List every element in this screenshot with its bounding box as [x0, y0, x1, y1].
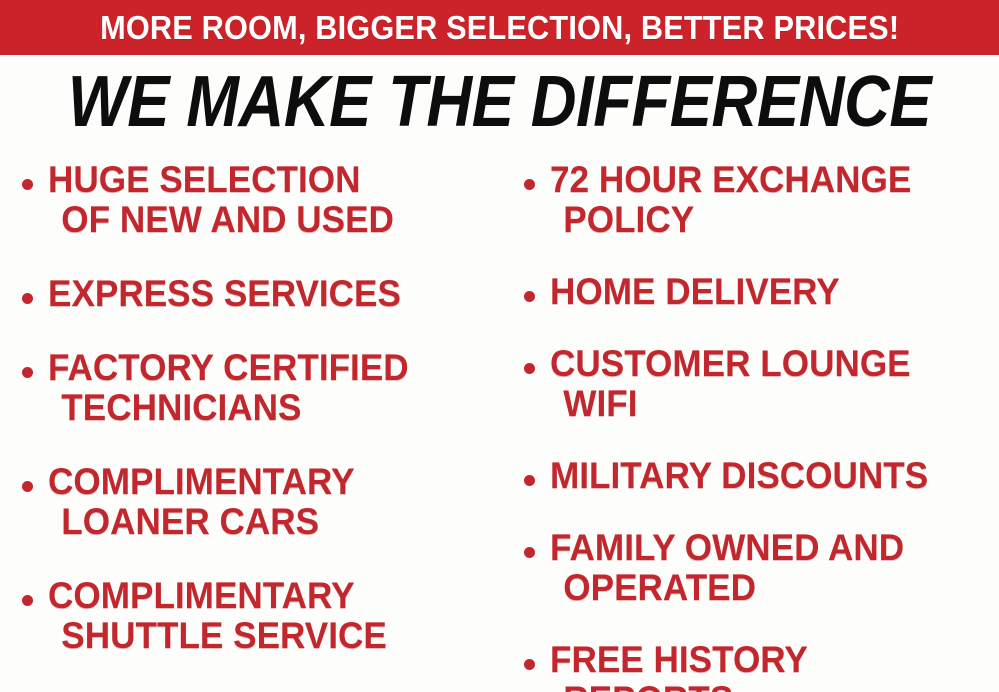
benefits-column-right: 72 HOUR EXCHANGEPOLICY HOME DELIVERY CUS…: [512, 160, 999, 692]
list-item-line1: FREE HISTORY: [550, 640, 977, 680]
list-item: FREE HISTORYREPORTS: [512, 640, 999, 692]
list-item-line1: COMPLIMENTARY: [48, 462, 482, 502]
list-item: FAMILY OWNED ANDOPERATED: [512, 528, 999, 608]
list-item-line2: WIFI: [550, 384, 977, 424]
headline-text: WE MAKE THE DIFFERENCE: [68, 66, 931, 138]
bullet-dot-icon: [22, 179, 33, 190]
list-item: COMPLIMENTARYSHUTTLE SERVICE: [10, 576, 505, 656]
list-item-line1: 72 HOUR EXCHANGE: [550, 160, 977, 200]
list-item-line1: FAMILY OWNED AND: [550, 528, 977, 568]
bullet-dot-icon: [22, 481, 33, 492]
bullet-dot-icon: [22, 595, 33, 606]
poster-root: MORE ROOM, BIGGER SELECTION, BETTER PRIC…: [0, 0, 999, 692]
list-item-line2: OF NEW AND USED: [48, 200, 482, 240]
benefits-column-left: HUGE SELECTIONOF NEW AND USED EXPRESS SE…: [10, 160, 505, 690]
promo-banner: MORE ROOM, BIGGER SELECTION, BETTER PRIC…: [0, 0, 999, 55]
list-item-line2: POLICY: [550, 200, 977, 240]
list-item-label: MILITARY DISCOUNTS: [550, 456, 977, 496]
headline: WE MAKE THE DIFFERENCE: [0, 66, 999, 138]
list-item-line1: HUGE SELECTION: [48, 160, 482, 200]
bullet-dot-icon: [22, 293, 33, 304]
bullet-dot-icon: [524, 291, 535, 302]
list-item-label: FACTORY CERTIFIEDTECHNICIANS: [48, 348, 482, 428]
list-item-label: COMPLIMENTARYSHUTTLE SERVICE: [48, 576, 482, 656]
list-item: FACTORY CERTIFIEDTECHNICIANS: [10, 348, 505, 428]
list-item-line2: LOANER CARS: [48, 502, 482, 542]
list-item-line2: TECHNICIANS: [48, 388, 482, 428]
benefits-columns: HUGE SELECTIONOF NEW AND USED EXPRESS SE…: [0, 160, 999, 692]
list-item-label: HUGE SELECTIONOF NEW AND USED: [48, 160, 482, 240]
list-item: MILITARY DISCOUNTS: [512, 456, 999, 496]
list-item-line2: SHUTTLE SERVICE: [48, 616, 482, 656]
list-item-label: EXPRESS SERVICES: [48, 274, 482, 314]
list-item-line1: COMPLIMENTARY: [48, 576, 482, 616]
promo-banner-text: MORE ROOM, BIGGER SELECTION, BETTER PRIC…: [100, 11, 899, 44]
list-item-label: HOME DELIVERY: [550, 272, 977, 312]
list-item-line1: CUSTOMER LOUNGE: [550, 344, 977, 384]
list-item-line2: REPORTS: [550, 680, 977, 692]
bullet-dot-icon: [524, 363, 535, 374]
list-item: HUGE SELECTIONOF NEW AND USED: [10, 160, 505, 240]
list-item-label: COMPLIMENTARYLOANER CARS: [48, 462, 482, 542]
list-item-line2: OPERATED: [550, 568, 977, 608]
list-item: CUSTOMER LOUNGEWIFI: [512, 344, 999, 424]
list-item: HOME DELIVERY: [512, 272, 999, 312]
bullet-dot-icon: [524, 659, 535, 670]
list-item: EXPRESS SERVICES: [10, 274, 505, 314]
list-item-label: CUSTOMER LOUNGEWIFI: [550, 344, 977, 424]
list-item-label: FREE HISTORYREPORTS: [550, 640, 977, 692]
list-item-label: FAMILY OWNED ANDOPERATED: [550, 528, 977, 608]
bullet-dot-icon: [524, 547, 535, 558]
list-item-line1: FACTORY CERTIFIED: [48, 348, 482, 388]
list-item: 72 HOUR EXCHANGEPOLICY: [512, 160, 999, 240]
bullet-dot-icon: [524, 179, 535, 190]
list-item-label: 72 HOUR EXCHANGEPOLICY: [550, 160, 977, 240]
bullet-dot-icon: [524, 475, 535, 486]
list-item: COMPLIMENTARYLOANER CARS: [10, 462, 505, 542]
bullet-dot-icon: [22, 367, 33, 378]
